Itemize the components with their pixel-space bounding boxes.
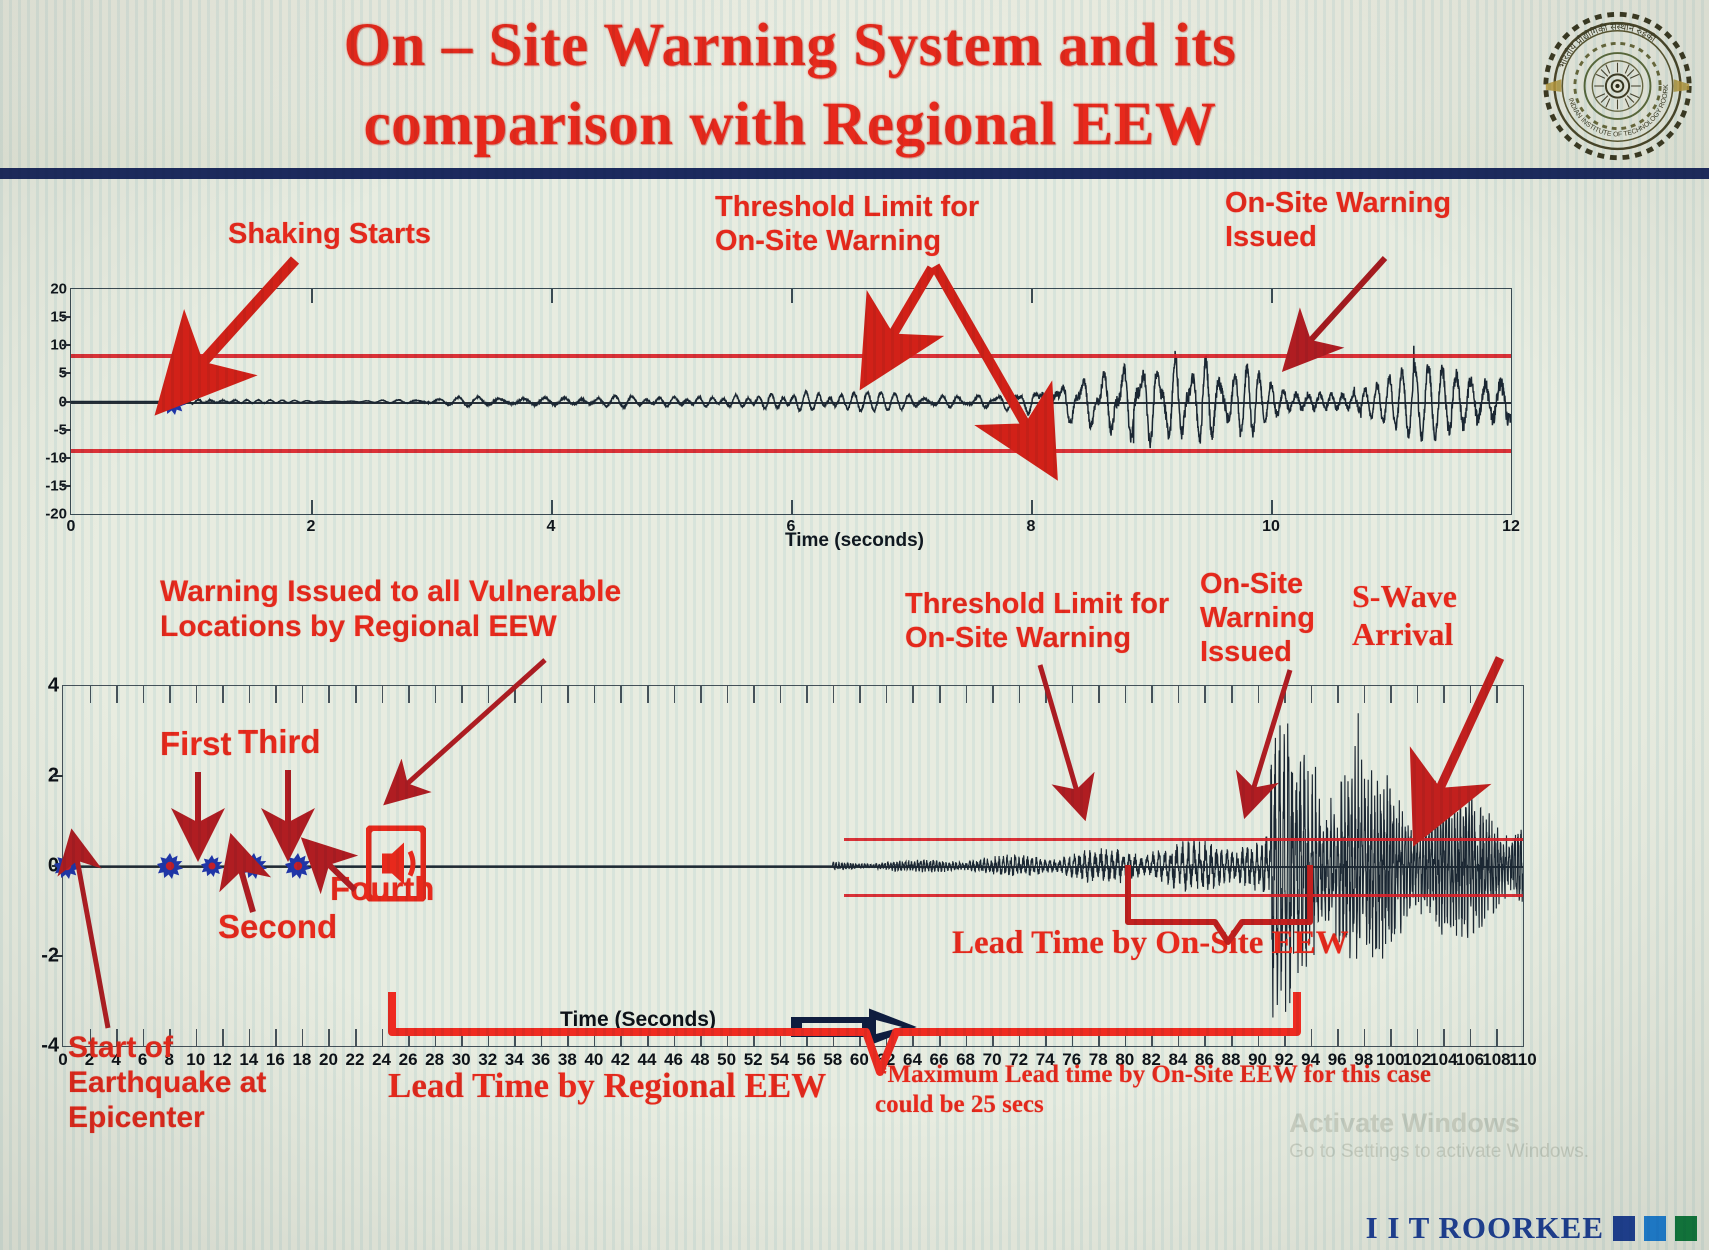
bottom-xtick-mark [514, 1029, 516, 1046]
label-second: Second [218, 908, 337, 947]
bottom-xtick-mark [382, 1029, 384, 1046]
s-wave-line-2: Arrival [1352, 616, 1457, 654]
zero-axis-line [71, 402, 1511, 404]
bottom-xtick-mark [992, 1029, 994, 1046]
top-ytick-n5: -5 [7, 421, 67, 438]
bottom-xtick-mark [1390, 686, 1392, 703]
star-marker-fourth [285, 853, 311, 879]
bottom-xtick-mark [328, 1029, 330, 1046]
bottom-xtick-mark [275, 686, 277, 703]
top-ytick-n20: -20 [7, 506, 67, 523]
bottom-xtick-mark [859, 686, 861, 703]
bottom-xtick-mark [1311, 686, 1313, 703]
annotation-s-wave-arrival: S-Wave Arrival [1352, 578, 1457, 654]
bottom-xtick-mark [408, 686, 410, 703]
bottom-xtick-104: 104 [1429, 1050, 1457, 1070]
bot-ytick-4: 4 [11, 675, 59, 698]
bottom-xtick-mark [594, 686, 596, 703]
brand-name: I I T ROORKEE [1366, 1210, 1604, 1246]
bottom-xtick-108: 108 [1482, 1050, 1510, 1070]
bottom-xtick-mark [408, 1029, 410, 1046]
bottom-xtick-mark [1231, 1029, 1233, 1046]
star-marker-second [201, 855, 223, 877]
bottom-xtick-mark [727, 686, 729, 703]
bottom-xtick-mark [1284, 686, 1286, 703]
bottom-xtick-mark [886, 686, 888, 703]
onsite-warn-line-3: Issued [1200, 636, 1315, 670]
bottom-xtick-110: 110 [1509, 1050, 1536, 1070]
bottom-xtick-mark [1496, 1029, 1498, 1046]
bottom-xtick-mark [1098, 1029, 1100, 1046]
bottom-xtick-mark [1496, 686, 1498, 703]
onsite-warn-line-1: On-Site [1200, 568, 1315, 602]
bottom-xtick-mark [1231, 686, 1233, 703]
bottom-xtick-mark [1045, 1029, 1047, 1046]
bottom-xtick-mark [859, 1029, 861, 1046]
bottom-xtick-mark [1470, 1029, 1472, 1046]
bottom-xtick-mark [1443, 1029, 1445, 1046]
bottom-xtick-mark [1178, 686, 1180, 703]
regional-warning-line-1: Warning Issued to all Vulnerable [160, 574, 621, 609]
bot-ytick-n4: -4 [11, 1035, 59, 1058]
bottom-xtick-mark [196, 686, 198, 703]
bottom-threshold-lower [844, 894, 1523, 897]
bottom-xtick-mark [912, 686, 914, 703]
bottom-xtick-mark [1284, 1029, 1286, 1046]
bottom-xtick-mark [355, 686, 357, 703]
bottom-xtick-mark [912, 1029, 914, 1046]
bottom-xtick-mark [674, 686, 676, 703]
star-marker-third [241, 853, 267, 879]
bottom-xtick-mark [488, 1029, 490, 1046]
bottom-xtick-mark [620, 686, 622, 703]
title-line-1: On – Site Warning System and its [150, 6, 1430, 85]
annotation-threshold-limit-bottom: Threshold Limit for On-Site Warning [905, 588, 1169, 656]
brand-square-3 [1675, 1216, 1697, 1241]
bottom-xtick-mark [275, 1029, 277, 1046]
bottom-xtick-mark [1364, 1029, 1366, 1046]
page-title: On – Site Warning System and its compari… [150, 6, 1430, 165]
bottom-xtick-mark [700, 686, 702, 703]
bottom-xtick-mark [1204, 1029, 1206, 1046]
bottom-xtick-22: 22 [346, 1050, 365, 1070]
label-third: Third [238, 723, 320, 762]
bottom-xtick-mark [1337, 1029, 1339, 1046]
star-marker-first [157, 853, 183, 879]
bottom-xtick-mark [1178, 1029, 1180, 1046]
slide-header: On – Site Warning System and its compari… [0, 0, 1709, 172]
header-divider [0, 168, 1709, 179]
activate-windows-watermark: Activate Windows Go to Settings to activ… [1289, 1107, 1589, 1165]
bottom-xtick-mark [780, 1029, 782, 1046]
bottom-xtick-mark [727, 1029, 729, 1046]
bottom-xtick-mark [435, 1029, 437, 1046]
bottom-xtick-mark [143, 686, 145, 703]
iit-roorkee-emblem-icon: भारतीय प्रौद्योगिकी संस्थान रुड़की INDIA… [1540, 6, 1695, 166]
label-fourth: Fourth [330, 870, 434, 909]
bottom-xtick-mark [886, 1029, 888, 1046]
top-ytick-n15: -15 [7, 477, 67, 494]
bottom-xtick-0: 0 [58, 1050, 67, 1070]
bottom-xtick-mark [541, 1029, 543, 1046]
bottom-xtick-mark [753, 1029, 755, 1046]
bottom-xtick-mark [1311, 1029, 1313, 1046]
top-ytick-15: 15 [7, 309, 67, 326]
bottom-xtick-mark [1098, 686, 1100, 703]
activate-line-1: Activate Windows [1289, 1107, 1589, 1141]
bottom-xtick-mark [1019, 1029, 1021, 1046]
bottom-xtick-mark [461, 686, 463, 703]
bottom-xtick-mark [488, 686, 490, 703]
bottom-xtick-mark [1470, 686, 1472, 703]
start-eq-line-3: Epicenter [68, 1100, 266, 1135]
bottom-xtick-mark [1072, 1029, 1074, 1046]
top-ytick-0: 0 [7, 393, 67, 410]
bottom-xtick-mark [169, 686, 171, 703]
bottom-xtick-mark [222, 686, 224, 703]
bottom-threshold-upper [844, 838, 1523, 841]
bottom-xtick-mark [939, 686, 941, 703]
brand-square-2 [1644, 1216, 1666, 1241]
bottom-xtick-mark [1125, 686, 1127, 703]
start-eq-line-2: Earthquake at [68, 1065, 266, 1100]
brand-square-1 [1613, 1216, 1635, 1241]
bottom-xtick-mark [1364, 686, 1366, 703]
bottom-xtick-mark [249, 686, 251, 703]
bottom-xtick-mark [992, 686, 994, 703]
bottom-xtick-106: 106 [1456, 1050, 1484, 1070]
bottom-xtick-mark [435, 686, 437, 703]
start-eq-line-1: Start of [68, 1030, 266, 1065]
threshold-line-lower [71, 449, 1511, 453]
bottom-chart-xaxis-title: Time (Seconds) [560, 1008, 716, 1032]
warn-line-1: On-Site Warning [1225, 187, 1451, 221]
bottom-xtick-mark [1204, 686, 1206, 703]
bottom-xtick-mark [806, 686, 808, 703]
bottom-xtick-mark [567, 686, 569, 703]
bottom-xtick-mark [1019, 686, 1021, 703]
annotation-shaking-starts: Shaking Starts [228, 218, 431, 252]
shaking-start-marker [160, 389, 186, 415]
annotation-threshold-limit-top: Threshold Limit for On-Site Warning [715, 191, 979, 259]
bottom-xtick-16: 16 [266, 1050, 285, 1070]
threshold-bottom-line-2: On-Site Warning [905, 622, 1169, 656]
bottom-xtick-mark [1390, 1029, 1392, 1046]
bottom-xtick-60: 60 [850, 1050, 869, 1070]
bottom-xtick-mark [541, 686, 543, 703]
annotation-start-of-earthquake: Start of Earthquake at Epicenter [68, 1030, 266, 1135]
bottom-xtick-mark [302, 1029, 304, 1046]
bottom-xtick-mark [1072, 686, 1074, 703]
bottom-xtick-mark [1417, 1029, 1419, 1046]
top-ytick-5: 5 [7, 365, 67, 382]
bottom-xtick-mark [116, 686, 118, 703]
threshold-line-1: Threshold Limit for [715, 191, 979, 225]
bottom-xtick-mark [90, 686, 92, 703]
threshold-bottom-line-1: Threshold Limit for [905, 588, 1169, 622]
bottom-xtick-mark [780, 686, 782, 703]
bottom-xtick-mark [514, 686, 516, 703]
bottom-xtick-mark [806, 1029, 808, 1046]
warn-line-2: Issued [1225, 221, 1451, 255]
threshold-line-upper [71, 354, 1511, 358]
activate-line-2: Go to Settings to activate Windows. [1289, 1140, 1589, 1164]
bottom-xtick-mark [753, 686, 755, 703]
bottom-xtick-mark [1258, 1029, 1260, 1046]
top-chart-xaxis-title: Time (seconds) [0, 530, 1709, 552]
label-first: First [160, 725, 232, 764]
s-wave-line-1: S-Wave [1352, 578, 1457, 616]
star-marker-epicenter [54, 853, 80, 879]
bottom-xtick-mark [1151, 1029, 1153, 1046]
top-ytick-20: 20 [7, 281, 67, 298]
bottom-xtick-mark [1125, 1029, 1127, 1046]
bottom-xtick-mark [833, 686, 835, 703]
annotation-onsite-warning-issued-bottom: On-Site Warning Issued [1200, 568, 1315, 670]
annotation-lead-time-regional: Lead Time by Regional EEW [388, 1065, 826, 1106]
bottom-xtick-mark [382, 686, 384, 703]
annotation-regional-warning: Warning Issued to all Vulnerable Locatio… [160, 574, 621, 644]
threshold-line-2: On-Site Warning [715, 225, 979, 259]
bottom-xtick-mark [966, 1029, 968, 1046]
bottom-xtick-mark [1337, 686, 1339, 703]
bottom-xtick-mark [1417, 686, 1419, 703]
annotation-lead-time-onsite: Lead Time by On-Site EEW [952, 924, 1349, 963]
bottom-xtick-mark [355, 1029, 357, 1046]
footnote-line-1: *Maximum Lead time by On-Site EEW for th… [875, 1060, 1431, 1090]
bottom-xtick-mark [328, 686, 330, 703]
bottom-xtick-mark [461, 1029, 463, 1046]
bottom-xtick-mark [647, 686, 649, 703]
regional-warning-line-2: Locations by Regional EEW [160, 609, 621, 644]
bottom-xtick-mark [1443, 686, 1445, 703]
bottom-xtick-mark [833, 1029, 835, 1046]
bottom-zero-axis-line [63, 866, 1523, 868]
onsite-warn-line-2: Warning [1200, 602, 1315, 636]
bottom-xtick-mark [939, 1029, 941, 1046]
bottom-xtick-18: 18 [292, 1050, 311, 1070]
top-ytick-10: 10 [7, 337, 67, 354]
iit-roorkee-brand: I I T ROORKEE [1366, 1210, 1697, 1246]
title-line-2: comparison with Regional EEW [150, 85, 1430, 164]
top-ytick-n10: -10 [7, 449, 67, 466]
bottom-xtick-mark [1045, 686, 1047, 703]
bottom-xtick-20: 20 [319, 1050, 338, 1070]
bottom-xtick-mark [966, 686, 968, 703]
top-plot-area: 20 15 10 5 0 -5 -10 -15 -20 0 2 4 6 8 10… [70, 288, 1512, 515]
bottom-xtick-mark [302, 686, 304, 703]
top-seismogram-chart: Shaking Starts Threshold Limit for On-Si… [0, 178, 1709, 558]
annotation-onsite-warning-issued-top: On-Site Warning Issued [1225, 187, 1451, 255]
bottom-xtick-mark [1258, 686, 1260, 703]
bottom-xtick-mark [1151, 686, 1153, 703]
